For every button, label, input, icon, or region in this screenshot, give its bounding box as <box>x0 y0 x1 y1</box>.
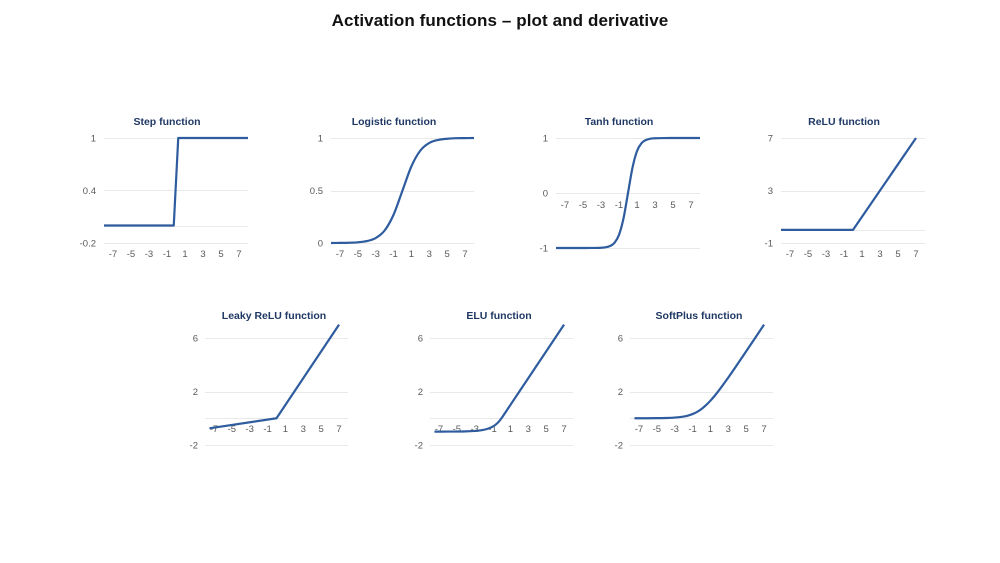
x-tick-label: 3 <box>427 249 432 260</box>
chart-plot-leaky-relu: 62-2-7-5-3-11357 <box>185 324 393 456</box>
y-tick-label: 1 <box>318 134 323 145</box>
x-tick-label: -7 <box>109 249 117 260</box>
chart-logistic: Logistic function10.50-7-5-3-11357 <box>305 116 483 248</box>
x-tick-label: -7 <box>635 424 643 435</box>
x-tick-label: 7 <box>236 249 241 260</box>
x-tick-label: 1 <box>182 249 187 260</box>
x-tick-label: 5 <box>218 249 223 260</box>
series-line-step <box>104 138 248 226</box>
x-tick-label: 7 <box>462 249 467 260</box>
x-tick-label: -7 <box>435 424 443 435</box>
series-line-relu <box>781 138 916 230</box>
chart-title-logistic: Logistic function <box>305 116 483 128</box>
y-tick-label: -0.2 <box>80 239 96 250</box>
x-tick-label: -1 <box>389 249 397 260</box>
x-tick-label: -5 <box>653 424 661 435</box>
x-tick-label: 1 <box>708 424 713 435</box>
x-tick-label: -3 <box>597 200 605 211</box>
chart-elu: ELU function62-2-7-5-3-11357 <box>410 310 588 442</box>
x-tick-label: -5 <box>804 249 812 260</box>
y-tick-label: -2 <box>190 441 198 452</box>
x-tick-label: -1 <box>163 249 171 260</box>
series-line-logistic <box>331 138 474 243</box>
x-tick-label: 5 <box>544 424 549 435</box>
x-tick-label: 1 <box>508 424 513 435</box>
x-tick-label: 5 <box>670 200 675 211</box>
x-tick-label: -3 <box>822 249 830 260</box>
x-tick-label: -1 <box>263 424 271 435</box>
slide-canvas: Activation functions – plot and derivati… <box>0 0 1000 563</box>
y-tick-label: 0 <box>543 189 548 200</box>
x-tick-label: 1 <box>283 424 288 435</box>
x-tick-label: -1 <box>615 200 623 211</box>
x-tick-label: 3 <box>652 200 657 211</box>
x-tick-label: -1 <box>688 424 696 435</box>
x-tick-label: 1 <box>634 200 639 211</box>
x-tick-label: -7 <box>336 249 344 260</box>
y-tick-label: 2 <box>418 387 423 398</box>
x-tick-label: 7 <box>913 249 918 260</box>
y-tick-label: 6 <box>618 334 623 345</box>
y-tick-label: 7 <box>768 134 773 145</box>
y-tick-label: 1 <box>91 134 96 145</box>
y-tick-label: -1 <box>765 239 773 250</box>
chart-plot-tanh: 10-1-7-5-3-11357 <box>530 130 738 262</box>
chart-softplus: SoftPlus function62-2-7-5-3-11357 <box>610 310 788 442</box>
chart-title-relu: ReLU function <box>755 116 933 128</box>
chart-title-tanh: Tanh function <box>530 116 708 128</box>
chart-plot-logistic: 10.50-7-5-3-11357 <box>305 130 513 262</box>
x-tick-label: 7 <box>761 424 766 435</box>
x-tick-label: 3 <box>301 424 306 435</box>
x-tick-label: 3 <box>526 424 531 435</box>
x-tick-label: 3 <box>200 249 205 260</box>
x-tick-label: -5 <box>354 249 362 260</box>
y-tick-label: 3 <box>768 186 773 197</box>
y-tick-label: 0.5 <box>310 186 323 197</box>
x-tick-label: 5 <box>744 424 749 435</box>
chart-plot-softplus: 62-2-7-5-3-11357 <box>610 324 818 456</box>
chart-leaky-relu: Leaky ReLU function62-2-7-5-3-11357 <box>185 310 363 442</box>
x-tick-label: -7 <box>786 249 794 260</box>
x-tick-label: -3 <box>670 424 678 435</box>
x-tick-label: 7 <box>336 424 341 435</box>
y-tick-label: -2 <box>615 441 623 452</box>
y-tick-label: -2 <box>415 441 423 452</box>
series-line-elu <box>434 325 564 432</box>
y-tick-label: 6 <box>418 334 423 345</box>
x-tick-label: 7 <box>688 200 693 211</box>
x-tick-label: -3 <box>145 249 153 260</box>
x-tick-label: 5 <box>445 249 450 260</box>
x-tick-label: 1 <box>859 249 864 260</box>
x-tick-label: 1 <box>409 249 414 260</box>
chart-title-step: Step function <box>78 116 256 128</box>
y-tick-label: 2 <box>193 387 198 398</box>
x-tick-label: -3 <box>371 249 379 260</box>
y-tick-label: -1 <box>540 244 548 255</box>
x-tick-label: -3 <box>245 424 253 435</box>
x-tick-label: -7 <box>210 424 218 435</box>
x-tick-label: 5 <box>319 424 324 435</box>
x-tick-label: -5 <box>579 200 587 211</box>
x-tick-label: -5 <box>127 249 135 260</box>
x-tick-label: 3 <box>726 424 731 435</box>
x-tick-label: 3 <box>877 249 882 260</box>
chart-plot-step: 10.4-0.2-7-5-3-11357 <box>78 130 286 262</box>
x-tick-label: -1 <box>840 249 848 260</box>
series-line-leaky-relu <box>209 325 339 429</box>
chart-tanh: Tanh function10-1-7-5-3-11357 <box>530 116 708 248</box>
y-tick-label: 0.4 <box>83 186 96 197</box>
chart-plot-elu: 62-2-7-5-3-11357 <box>410 324 618 456</box>
y-tick-label: 2 <box>618 387 623 398</box>
y-tick-label: 6 <box>193 334 198 345</box>
chart-title-elu: ELU function <box>410 310 588 322</box>
chart-title-softplus: SoftPlus function <box>610 310 788 322</box>
chart-relu: ReLU function73-1-7-5-3-11357 <box>755 116 933 248</box>
chart-plot-relu: 73-1-7-5-3-11357 <box>755 130 963 262</box>
x-tick-label: -3 <box>470 424 478 435</box>
x-tick-label: 7 <box>561 424 566 435</box>
x-tick-label: -7 <box>561 200 569 211</box>
y-tick-label: 0 <box>318 239 323 250</box>
x-tick-label: 5 <box>895 249 900 260</box>
page-title: Activation functions – plot and derivati… <box>0 11 1000 31</box>
y-tick-label: 1 <box>543 134 548 145</box>
chart-step: Step function10.4-0.2-7-5-3-11357 <box>78 116 256 248</box>
chart-title-leaky-relu: Leaky ReLU function <box>185 310 363 322</box>
x-tick-label: -5 <box>453 424 461 435</box>
